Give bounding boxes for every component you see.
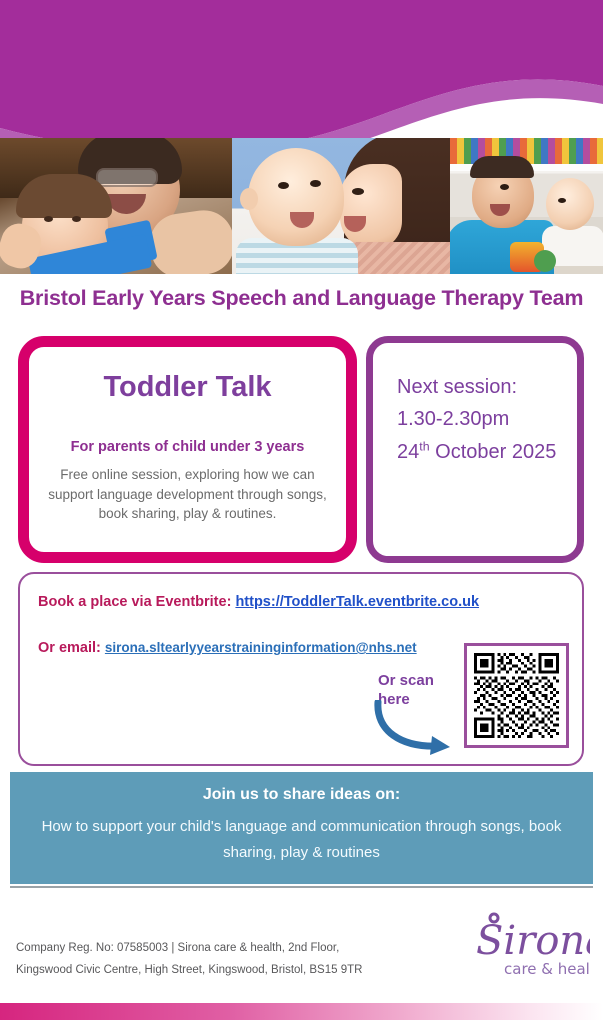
photo-strip [0, 138, 603, 274]
page-title: Bristol Early Years Speech and Language … [0, 286, 603, 311]
toddler-talk-heading: Toddler Talk [29, 371, 346, 404]
toddler-and-grandparent-photo [0, 138, 232, 274]
sirona-logo-tagline: care & health [504, 960, 590, 978]
footer-line-2: Kingswood Civic Centre, High Street, Kin… [16, 960, 416, 982]
next-session-details: Next session: 1.30-2.30pm 24th October 2… [397, 371, 567, 468]
header-banner [0, 0, 603, 282]
qr-code-icon [474, 653, 559, 738]
eventbrite-link[interactable]: https://ToddlerTalk.eventbrite.co.uk [235, 594, 479, 610]
divider-rule [10, 886, 593, 888]
session-description: Free online session, exploring how we ca… [43, 465, 332, 524]
email-line: Or email: sirona.sltearlyyearstrainingin… [38, 640, 417, 656]
next-session-time: 1.30-2.30pm [397, 403, 567, 435]
company-registration-text: Company Reg. No: 07585003 | Sirona care … [16, 938, 416, 982]
next-session-day: 24 [397, 441, 419, 463]
sirona-logo-wordmark: Sirona [476, 918, 590, 964]
curved-arrow-icon [366, 700, 470, 756]
eventbrite-line: Book a place via Eventbrite: https://Tod… [38, 594, 479, 610]
email-label: Or email: [38, 640, 105, 656]
join-us-band: Join us to share ideas on: How to suppor… [10, 772, 593, 884]
man-and-baby-photo [450, 138, 603, 274]
join-us-body: How to support your child's language and… [40, 814, 563, 865]
email-link[interactable]: sirona.sltearlyyearstraininginformation@… [105, 640, 417, 655]
baby-and-mother-photo [232, 138, 450, 274]
next-session-date: 24th October 2025 [397, 436, 567, 468]
next-session-day-suffix: th [419, 439, 429, 453]
sirona-logo: Sirona care & health [470, 906, 590, 984]
next-session-box: Next session: 1.30-2.30pm 24th October 2… [366, 336, 584, 563]
next-session-month-year: October 2025 [430, 441, 557, 463]
bottom-gradient-bar [0, 1003, 603, 1020]
poster-page: Bristol Early Years Speech and Language … [0, 0, 603, 1024]
toddler-talk-box: Toddler Talk For parents of child under … [18, 336, 357, 563]
eventbrite-label: Book a place via Eventbrite: [38, 594, 235, 610]
join-us-title: Join us to share ideas on: [10, 786, 593, 804]
next-session-label: Next session: [397, 371, 567, 403]
audience-subtitle: For parents of child under 3 years [29, 439, 346, 455]
eventbrite-qr-code[interactable] [464, 643, 569, 748]
footer-line-1: Company Reg. No: 07585003 | Sirona care … [16, 938, 416, 960]
